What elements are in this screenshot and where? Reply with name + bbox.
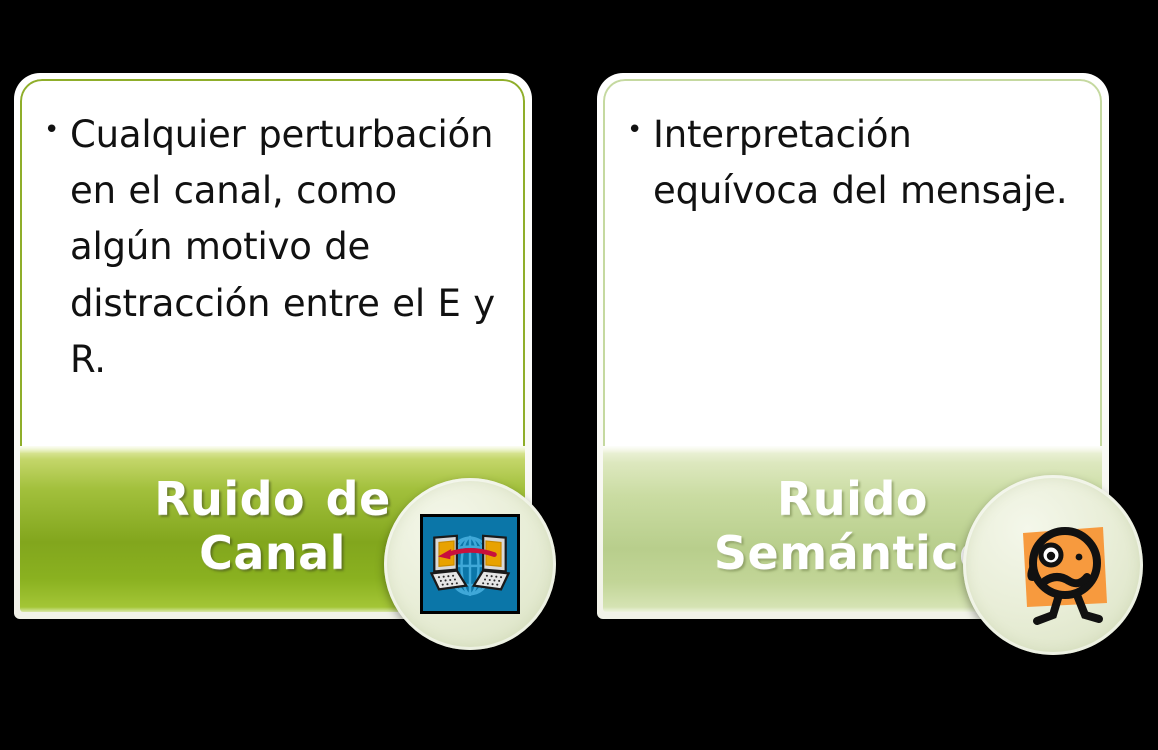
caption-line-1: Ruido bbox=[777, 472, 928, 526]
badge-art bbox=[1003, 515, 1103, 615]
caption-text: Ruido de Canal bbox=[154, 473, 391, 581]
badge-art bbox=[420, 514, 520, 614]
network-laptops-icon bbox=[420, 514, 520, 614]
slide-canvas: Cualquier perturbación en el canal, como… bbox=[0, 0, 1158, 750]
bullet-list: Interpretación equívoca del mensaje. bbox=[617, 107, 1084, 219]
caption-line-2: Canal bbox=[199, 526, 346, 580]
network-laptops-svg bbox=[423, 517, 517, 611]
badge-confused-person[interactable] bbox=[963, 475, 1143, 655]
card-body-ruido-semantico: Interpretación equívoca del mensaje. bbox=[603, 79, 1102, 446]
confused-person-svg bbox=[1003, 515, 1119, 631]
list-item: Cualquier perturbación en el canal, como… bbox=[34, 107, 507, 388]
caption-line-2: Semántico bbox=[714, 526, 991, 580]
badge-network-laptops[interactable] bbox=[384, 478, 556, 650]
list-item: Interpretación equívoca del mensaje. bbox=[617, 107, 1084, 219]
card-body-ruido-de-canal: Cualquier perturbación en el canal, como… bbox=[20, 79, 525, 446]
caption-line-1: Ruido de bbox=[154, 472, 391, 526]
confused-person-icon bbox=[1003, 515, 1119, 631]
caption-text: Ruido Semántico bbox=[714, 473, 991, 581]
bullet-list: Cualquier perturbación en el canal, como… bbox=[34, 107, 507, 388]
